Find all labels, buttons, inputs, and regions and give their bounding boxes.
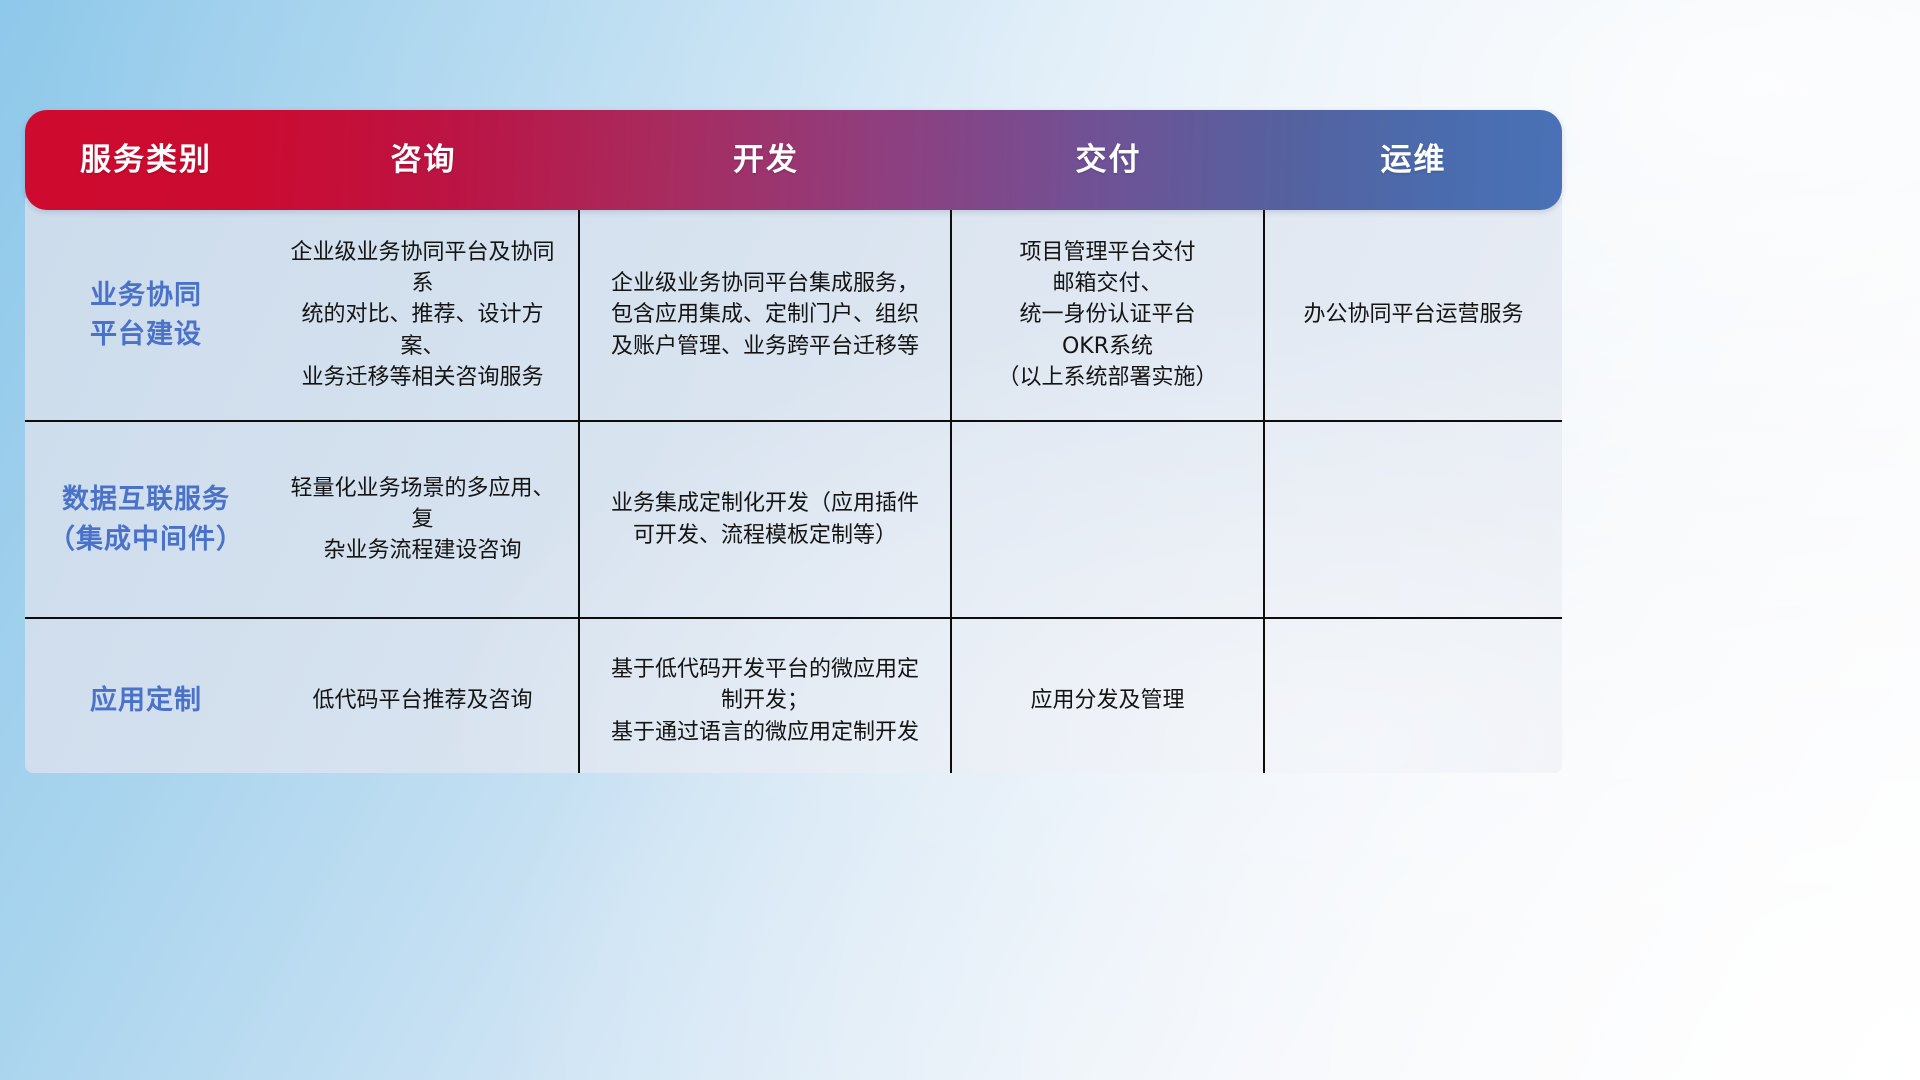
header-operations: 运维 bbox=[1265, 145, 1562, 176]
table-row: 数据互联服务 （集成中间件） 轻量化业务场景的多应用、复 杂业务流程建设咨询 业… bbox=[25, 422, 1562, 619]
cell-row1-delivery bbox=[952, 422, 1265, 617]
row-label-data-integration: 数据互联服务 （集成中间件） bbox=[25, 422, 267, 617]
header-development: 开发 bbox=[580, 145, 952, 176]
table-row: 业务协同 平台建设 企业级业务协同平台及协同系 统的对比、推荐、设计方案、 业务… bbox=[25, 210, 1562, 422]
cell-row0-delivery: 项目管理平台交付 邮箱交付、 统一身份认证平台 OKR系统 （以上系统部署实施） bbox=[952, 210, 1265, 420]
cell-row1-development: 业务集成定制化开发（应用插件 可开发、流程模板定制等） bbox=[580, 422, 952, 617]
table-body: 业务协同 平台建设 企业级业务协同平台及协同系 统的对比、推荐、设计方案、 业务… bbox=[25, 198, 1562, 773]
cell-row0-development: 企业级业务协同平台集成服务， 包含应用集成、定制门户、组织 及账户管理、业务跨平… bbox=[580, 210, 952, 420]
cell-row2-development: 基于低代码开发平台的微应用定 制开发； 基于通过语言的微应用定制开发 bbox=[580, 619, 952, 773]
header-service-category: 服务类别 bbox=[25, 145, 267, 176]
cell-row2-delivery: 应用分发及管理 bbox=[952, 619, 1265, 773]
cell-row0-operations: 办公协同平台运营服务 bbox=[1265, 210, 1562, 420]
table-row: 应用定制 低代码平台推荐及咨询 基于低代码开发平台的微应用定 制开发； 基于通过… bbox=[25, 619, 1562, 773]
cell-row1-operations bbox=[1265, 422, 1562, 617]
service-matrix-table: 服务类别 咨询 开发 交付 运维 业务协同 平台建设 企业级业务协同平台及协同系… bbox=[25, 110, 1562, 773]
table-header-row: 服务类别 咨询 开发 交付 运维 bbox=[25, 110, 1562, 210]
cell-row2-consulting: 低代码平台推荐及咨询 bbox=[267, 619, 580, 773]
row-label-business-collaboration: 业务协同 平台建设 bbox=[25, 210, 267, 420]
row-label-app-customization: 应用定制 bbox=[25, 619, 267, 773]
header-delivery: 交付 bbox=[952, 145, 1265, 176]
header-consulting: 咨询 bbox=[267, 145, 580, 176]
cell-row2-operations bbox=[1265, 619, 1562, 773]
cell-row0-consulting: 企业级业务协同平台及协同系 统的对比、推荐、设计方案、 业务迁移等相关咨询服务 bbox=[267, 210, 580, 420]
cell-row1-consulting: 轻量化业务场景的多应用、复 杂业务流程建设咨询 bbox=[267, 422, 580, 617]
